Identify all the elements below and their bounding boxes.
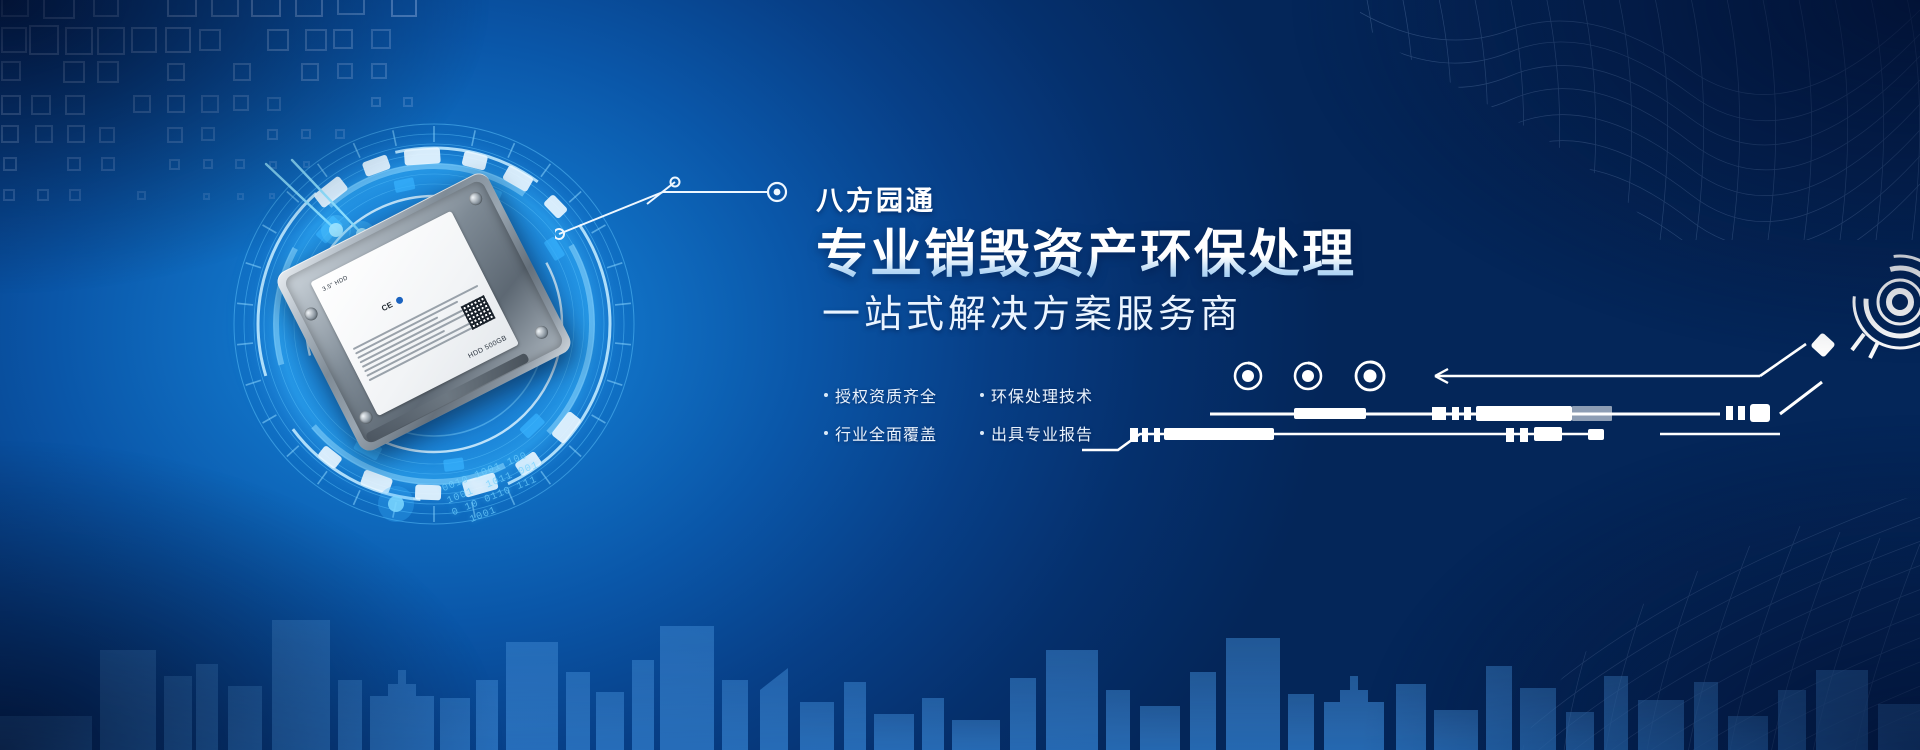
wireframe-mesh-top-right <box>1360 0 1920 240</box>
feature-item: 环保处理技术 <box>980 383 1116 407</box>
subheadline: 一站式解决方案服务商 <box>822 293 1376 339</box>
city-skyline-silhouette <box>0 530 1920 750</box>
feature-list: 授权资质齐全 环保处理技术 行业全面覆盖 出具专业报告 <box>824 383 1144 445</box>
connector-line <box>555 170 805 240</box>
feature-item: 授权资质齐全 <box>824 383 960 407</box>
feature-item: 出具专业报告 <box>980 421 1116 445</box>
banner-copy: 八方园通 专业销毁资产环保处理 一站式解决方案服务商 授权资质齐全 环保处理技术… <box>816 188 1376 445</box>
bullet-dot-icon <box>824 393 828 397</box>
ce-mark: CE <box>380 300 394 313</box>
feature-label: 授权资质齐全 <box>835 383 937 407</box>
hdd-certification-marks: CE <box>380 295 405 314</box>
bullet-dot-icon <box>824 431 828 435</box>
hdd-label-model: 3.5" HDD <box>322 275 349 293</box>
bullet-dot-icon <box>980 431 984 435</box>
blue-dot-mark <box>395 296 404 305</box>
feature-item: 行业全面覆盖 <box>824 421 960 445</box>
promo-banner: 3.5" HDD CE HDD 500GB 0010 1001 100 1001… <box>0 0 1920 750</box>
headline: 专业销毁资产环保处理 <box>816 227 1376 283</box>
feature-label: 行业全面覆盖 <box>835 421 937 445</box>
gear-ring-decoration <box>1834 242 1920 362</box>
feature-label: 环保处理技术 <box>991 383 1093 407</box>
brand-name: 八方园通 <box>816 188 1376 215</box>
bullet-dot-icon <box>980 393 984 397</box>
feature-label: 出具专业报告 <box>991 421 1093 445</box>
